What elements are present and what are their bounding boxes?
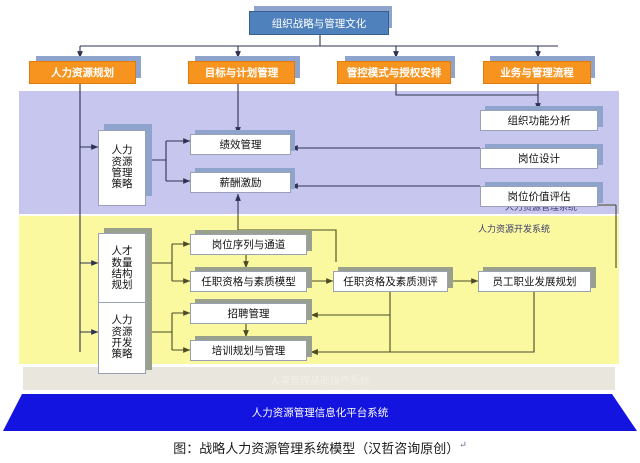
strategy-line: 规划: [112, 280, 133, 291]
strategy-box-talent-quantity-structure-plan[interactable]: 人才 数量 结构 规划: [98, 233, 146, 305]
node-qualification-competency-model[interactable]: 任职资格与素质模型: [190, 271, 307, 292]
driver-box-goal-plan-management[interactable]: 目标与计划管理: [188, 61, 295, 84]
top-box-org-strategy[interactable]: 组织战略与管理文化: [249, 11, 389, 35]
strategy-line: 人才: [112, 246, 133, 257]
figure-caption-text: 图：战略人力资源管理系统模型（汉哲咨询原创）: [173, 442, 459, 457]
band-label-hr-development-system: 人力资源开发系统: [478, 222, 550, 235]
node-recruitment-management[interactable]: 招聘管理: [190, 303, 307, 324]
node-org-function-analysis[interactable]: 组织功能分析: [480, 110, 598, 131]
strategy-line: 策略: [112, 349, 133, 360]
strategy-line: 人力: [112, 145, 133, 156]
driver-box-hr-planning[interactable]: 人力资源规划: [29, 61, 136, 84]
node-performance-management[interactable]: 绩效管理: [190, 134, 291, 155]
node-training-plan-management[interactable]: 培训规划与管理: [190, 340, 307, 361]
platform-bar-label: 人力资源管理信息化平台系统: [0, 394, 640, 431]
node-job-design[interactable]: 岗位设计: [480, 148, 598, 169]
diagram-canvas: 人力资源管理系统 人力资源开发系统 人事管理基础操作系统: [0, 0, 640, 463]
driver-box-business-management-process[interactable]: 业务与管理流程: [483, 61, 591, 84]
platform-bar[interactable]: 人力资源管理信息化平台系统: [0, 394, 640, 431]
band-label-personnel-base-system: 人事管理基础操作系统: [0, 372, 640, 387]
node-employee-career-development-plan[interactable]: 员工职业发展规划: [478, 271, 591, 292]
strategy-line: 人力: [112, 315, 133, 326]
strategy-box-hr-development-strategy[interactable]: 人力 资源 开发 策略: [98, 302, 146, 374]
strategy-box-hr-management-strategy[interactable]: 人力 资源 管理 策略: [98, 130, 146, 206]
strategy-line: 策略: [112, 179, 133, 190]
node-qualification-competency-assessment[interactable]: 任职资格及素质测评: [333, 271, 448, 292]
figure-caption: 图：战略人力资源管理系统模型（汉哲咨询原创）↵: [0, 438, 640, 457]
paragraph-mark-icon: ↵: [459, 441, 467, 451]
node-job-sequence-channel[interactable]: 岗位序列与通道: [190, 234, 307, 255]
driver-box-control-mode-authorization[interactable]: 管控模式与授权安排: [337, 61, 451, 84]
node-job-value-evaluation[interactable]: 岗位价值评估: [480, 186, 598, 207]
node-compensation-incentive[interactable]: 薪酬激励: [190, 172, 291, 193]
